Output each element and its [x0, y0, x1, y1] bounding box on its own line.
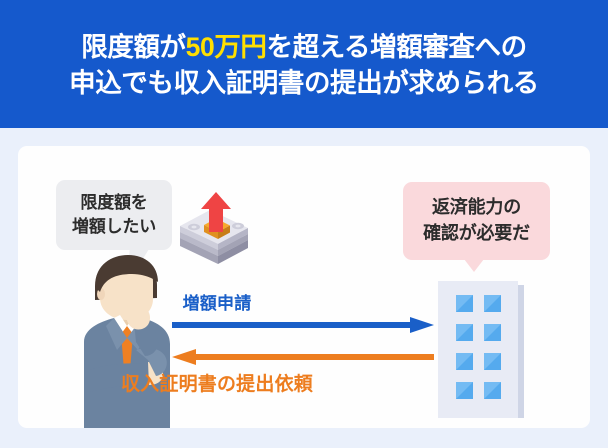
- infographic-root: 限度額が50万円を超える増額審査への 申込でも収入証明書の提出が求められる 限度…: [0, 0, 608, 448]
- headline-part-accent: 50万円: [186, 32, 267, 62]
- headline-line-1: 限度額が50万円を超える増額審査への: [81, 29, 527, 65]
- headline-part-prefix: 限度額が: [81, 32, 185, 62]
- speech-bubble-lender-tail: [464, 259, 484, 272]
- header-banner: 限度額が50万円を超える増額審査への 申込でも収入証明書の提出が求められる: [0, 0, 608, 128]
- arrow-label-document-request: 収入証明書の提出依頼: [0, 369, 608, 396]
- arrow-label-application: 増額申請: [0, 289, 608, 314]
- thinking-businessman-icon: [62, 252, 192, 428]
- arrow-document-request-backward: [172, 348, 434, 366]
- bubble-left-line-1: 限度額を: [80, 191, 147, 215]
- bubble-right-line-1: 返済能力の: [432, 195, 521, 221]
- headline-part-suffix: を超える増額審査への: [267, 32, 527, 62]
- arrow-application-forward: [172, 316, 434, 334]
- bubble-left-line-2: 増額したい: [72, 215, 156, 239]
- bubble-right-line-2: 確認が必要だ: [423, 221, 530, 247]
- speech-bubble-lender: 返済能力の 確認が必要だ: [403, 182, 550, 260]
- speech-bubble-customer: 限度額を 増額したい: [56, 180, 172, 250]
- headline-line-2: 申込でも収入証明書の提出が求められる: [69, 65, 539, 101]
